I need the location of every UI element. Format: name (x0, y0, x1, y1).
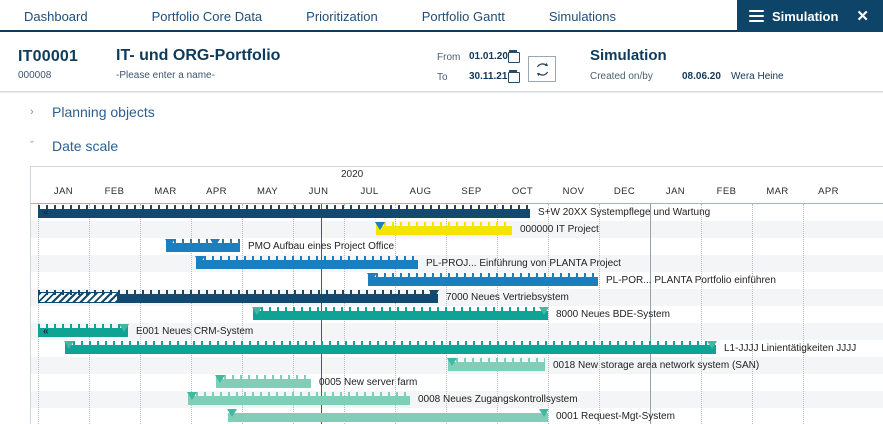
gantt-bar-label: 0018 New storage area network system (SA… (553, 360, 759, 371)
gantt-gridline (89, 204, 90, 424)
gantt-bar-fill (38, 209, 530, 218)
gantt-bar-progress-dots (38, 290, 438, 295)
gantt-gridline (701, 204, 702, 424)
gantt-milestone-start-icon[interactable] (64, 341, 74, 349)
gantt-bar-progress-dots (216, 375, 311, 380)
gantt-bar[interactable] (38, 328, 128, 337)
gantt-bar-progress-dots (188, 392, 410, 397)
month-label-mar-2: MAR (140, 186, 191, 197)
portfolio-id: IT00001 (18, 48, 78, 66)
gantt-bar-fill (216, 379, 311, 388)
gantt-milestone-start-icon[interactable] (367, 273, 377, 281)
section-date-scale[interactable]: ˇ Date scale (0, 138, 118, 154)
gantt-milestone-start-icon[interactable] (187, 392, 197, 400)
gantt-bar-label: 8000 Neues BDE-System (556, 309, 670, 320)
gantt-bar-label: E001 Neues CRM-System (136, 326, 253, 337)
gantt-gridline (803, 204, 804, 424)
gantt-bar[interactable] (188, 396, 410, 405)
gantt-bar-progress-dots (196, 256, 418, 261)
created-by: Wera Heine (731, 71, 784, 82)
from-label: From (437, 52, 460, 63)
gantt-bar-progress-dots (368, 273, 598, 278)
gantt-bar-fill (188, 396, 410, 405)
month-label-may-4: MAY (242, 186, 293, 197)
gantt-milestone-end-icon[interactable] (539, 409, 549, 417)
gantt-bar-fill (368, 277, 598, 286)
gantt-bar[interactable] (196, 260, 418, 269)
gantt-bar-label: PL-POR... PLANTA Portfolio einführen (606, 275, 776, 286)
month-label-apr-3: APR (191, 186, 242, 197)
gantt-bar[interactable] (228, 413, 548, 422)
section-planning-objects[interactable]: › Planning objects (0, 104, 155, 120)
month-label-jun-5: JUN (293, 186, 344, 197)
gantt-bar[interactable] (166, 243, 240, 252)
gantt-bar-label: PL-PROJ... Einführung von PLANTA Project (426, 258, 621, 269)
chevron-right-icon: › (30, 106, 38, 118)
tab-label: Simulation (772, 9, 838, 24)
gantt-milestone-start-icon[interactable] (227, 409, 237, 417)
gantt-bar[interactable] (368, 277, 598, 286)
refresh-icon (534, 61, 551, 78)
gantt-milestone-start-icon[interactable] (165, 239, 175, 247)
tab-simulations[interactable]: Simulations (527, 0, 638, 32)
month-label-jan-12: JAN (650, 186, 701, 197)
page-title: IT- und ORG-Portfolio (116, 47, 280, 65)
gantt-bar-label: PMO Aufbau eines Project Office (248, 241, 394, 252)
refresh-button[interactable] (528, 56, 556, 82)
gantt-bar[interactable] (38, 209, 530, 218)
tab-dashboard[interactable]: Dashboard (0, 0, 130, 32)
gantt-scroll-left-icon[interactable]: « (43, 326, 48, 337)
created-date: 08.06.20 (682, 71, 721, 82)
month-label-sep-8: SEP (446, 186, 497, 197)
gantt-bar-fill (196, 260, 418, 269)
month-label-oct-9: OCT (497, 186, 548, 197)
to-date-input[interactable]: 30.11.21 (469, 71, 507, 82)
calendar-icon[interactable] (508, 50, 518, 61)
gantt-bar-label: 7000 Neues Vertriebsystem (446, 292, 569, 303)
tab-label: Portfolio Gantt (422, 9, 505, 24)
tab-simulation-active[interactable]: Simulation ✕ (737, 0, 883, 32)
gantt-gridline (242, 204, 243, 424)
tab-portfolio-core-data[interactable]: Portfolio Core Data (130, 0, 285, 32)
gantt-bar-fill (253, 311, 548, 320)
tab-label: Simulations (549, 9, 616, 24)
gantt-row-background (31, 374, 883, 391)
tab-prioritization[interactable]: Prioritization (284, 0, 400, 32)
gantt-bar[interactable] (448, 362, 545, 371)
gantt-bar[interactable] (376, 226, 512, 235)
gantt-bar-label: S+W 20XX Systempflege und Wartung (538, 207, 710, 218)
gantt-grid: «S+W 20XX Systempflege und Wartung000000… (31, 203, 883, 424)
hamburger-icon[interactable] (749, 7, 764, 25)
simulation-title: Simulation (590, 47, 667, 64)
gantt-row-background (31, 238, 883, 255)
gantt-chart: 2020 JANFEBMARAPRMAYJUNJULAUGSEPOCTNOVDE… (30, 166, 883, 424)
tab-label: Prioritization (306, 9, 378, 24)
gantt-bar-fill (118, 294, 438, 303)
gantt-milestone-start-icon[interactable] (447, 358, 457, 366)
from-date-input[interactable]: 01.01.20 (469, 51, 508, 62)
main-tab-bar: Dashboard Portfolio Core Data Prioritiza… (0, 0, 883, 32)
gantt-bar-fill (166, 243, 240, 252)
gantt-milestone-end-icon[interactable] (539, 307, 549, 315)
portfolio-id-sub: 000008 (18, 70, 51, 81)
tab-portfolio-gantt[interactable]: Portfolio Gantt (400, 0, 527, 32)
gantt-bar[interactable] (216, 379, 311, 388)
gantt-milestone-end-icon[interactable] (707, 341, 717, 349)
month-label-dec-11: DEC (599, 186, 650, 197)
gantt-milestone-end-icon[interactable] (119, 324, 129, 332)
gantt-bar[interactable] (253, 311, 548, 320)
gantt-milestone-start-icon[interactable] (375, 222, 385, 230)
gantt-bar[interactable] (38, 294, 438, 303)
calendar-icon[interactable] (508, 70, 518, 81)
month-label-apr-15: APR (803, 186, 854, 197)
gantt-gridline (752, 204, 753, 424)
portfolio-name-field[interactable]: -Please enter a name- (116, 70, 215, 81)
close-icon[interactable]: ✕ (856, 7, 869, 25)
created-label: Created on/by (590, 71, 653, 82)
gantt-bar-fill (228, 413, 548, 422)
month-label-aug-7: AUG (395, 186, 446, 197)
gantt-bar-progress-dots (448, 358, 545, 363)
chevron-down-icon: ˇ (30, 140, 38, 152)
month-label-mar-14: MAR (752, 186, 803, 197)
gantt-bar[interactable] (65, 345, 716, 354)
gantt-bar-progress-dots (376, 222, 512, 227)
gantt-milestone-start-icon[interactable] (215, 375, 225, 383)
gantt-scroll-left-icon[interactable]: « (43, 207, 48, 218)
gantt-gridline (191, 204, 192, 424)
gantt-bar-progress-dots (253, 307, 548, 312)
gantt-milestone-start-icon[interactable] (252, 307, 262, 315)
tab-label: Dashboard (24, 9, 88, 24)
month-label-jul-6: JUL (344, 186, 395, 197)
section-label: Planning objects (52, 104, 155, 120)
gantt-milestone-mid-icon[interactable] (210, 239, 220, 247)
gantt-gridline (38, 204, 39, 424)
gantt-month-header: JANFEBMARAPRMAYJUNJULAUGSEPOCTNOVDECJANF… (31, 184, 883, 201)
gantt-bar-progress-dots (38, 324, 128, 329)
month-label-nov-10: NOV (548, 186, 599, 197)
month-label-feb-13: FEB (701, 186, 752, 197)
month-label-jan-0: JAN (38, 186, 89, 197)
to-label: To (437, 72, 448, 83)
gantt-milestone-end-icon[interactable] (429, 290, 439, 298)
gantt-bar-fill (376, 226, 512, 235)
year-label: 2020 (341, 169, 363, 180)
gantt-bar-progress-dots (166, 239, 240, 244)
gantt-bar-fill (448, 362, 545, 371)
gantt-bar-fill (65, 345, 716, 354)
gantt-bar-label: L1-JJJJ Linientätigkeiten JJJJ (724, 343, 856, 354)
tab-label: Portfolio Core Data (152, 9, 263, 24)
gantt-gridline (140, 204, 141, 424)
section-label: Date scale (52, 138, 118, 154)
gantt-bar-label: 0005 New server farm (319, 377, 417, 388)
month-label-feb-1: FEB (89, 186, 140, 197)
gantt-bar-progress-dots (65, 341, 716, 346)
gantt-bar-progress-dots (38, 205, 530, 210)
gantt-bar-label: 0008 Neues Zugangskontrollsystem (418, 394, 578, 405)
gantt-bar-label: 000000 IT Project (520, 224, 599, 235)
gantt-year-header: 2020 (31, 167, 883, 184)
gantt-bar-fill (38, 328, 128, 337)
gantt-bar-label: 0001 Request-Mgt-System (556, 411, 675, 422)
gantt-milestone-start-icon[interactable] (195, 256, 205, 264)
